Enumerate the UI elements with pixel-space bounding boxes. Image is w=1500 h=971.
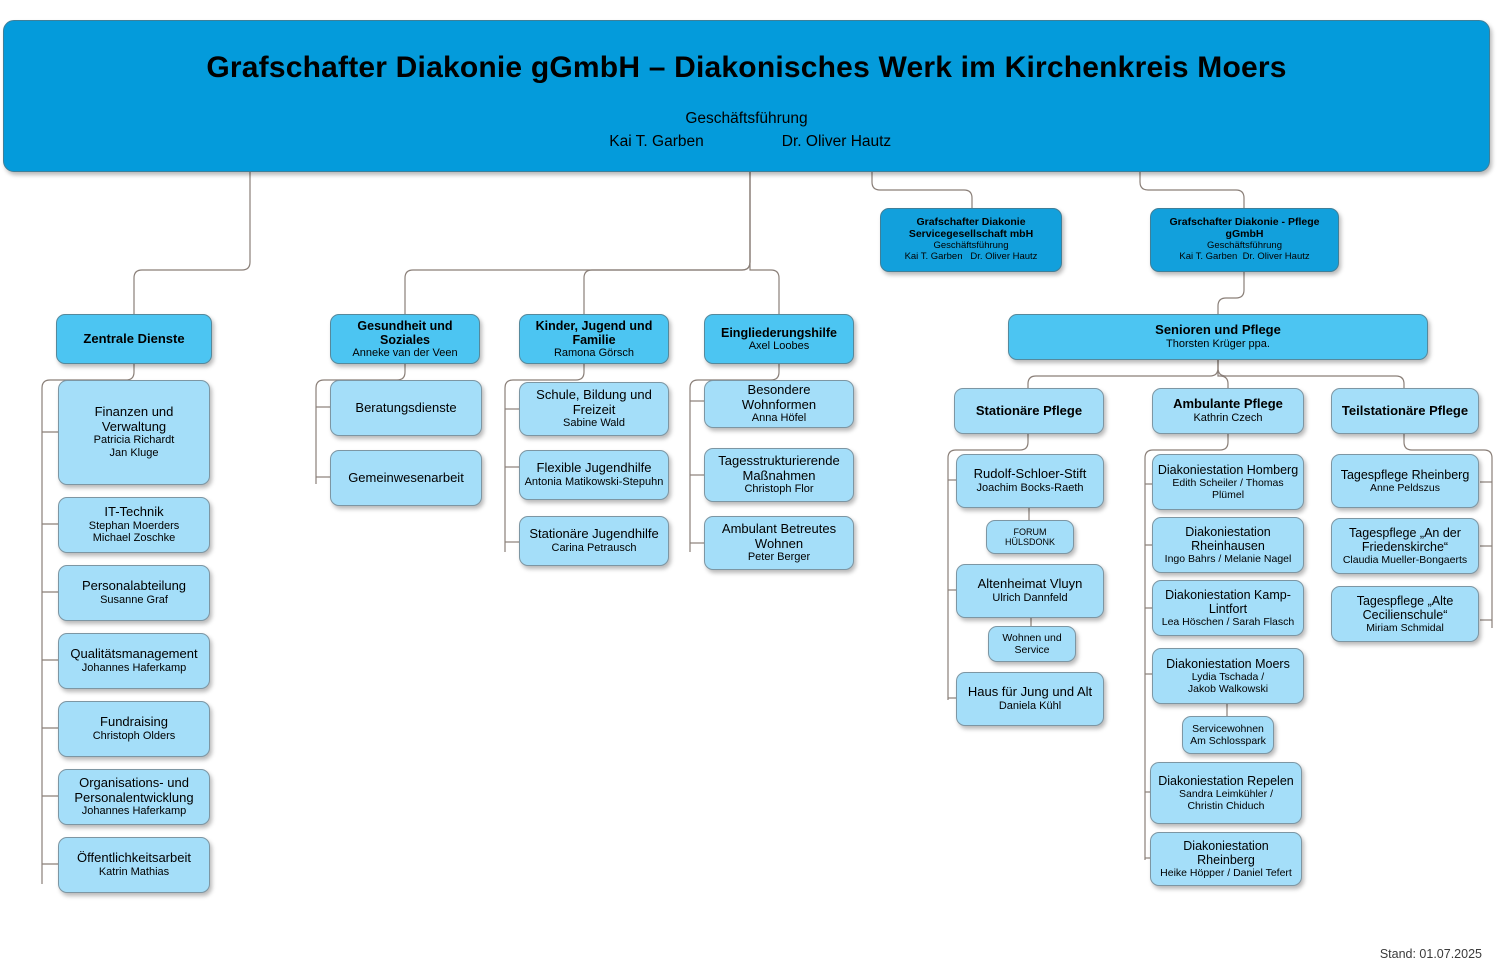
facility-altenheimat-vluyn[interactable]: Altenheimat Vluyn Ulrich Dannfeld xyxy=(956,564,1104,618)
facility-wohnen-und-service[interactable]: Wohnen und Service xyxy=(988,626,1076,662)
facility-servicewohnen-am-schlosspark[interactable]: Servicewohnen Am Schlosspark xyxy=(1182,716,1274,754)
department-kinder-jugend-und-familie[interactable]: Kinder, Jugend und Familie Ramona Görsch xyxy=(519,314,669,364)
facility-title: Altenheimat Vluyn xyxy=(978,577,1083,592)
unit-title: Flexible Jugendhilfe xyxy=(537,461,652,476)
root-management: Geschäftsführung Kai T. GarbenDr. Oliver… xyxy=(4,107,1489,154)
facility-title: Rudolf-Schloer-Stift xyxy=(974,467,1087,482)
facility-title: Diakoniestation Rheinhausen xyxy=(1157,525,1299,553)
facility-title: Diakoniestation Moers xyxy=(1166,657,1290,671)
facility-lead-1: Daniela Kühl xyxy=(999,700,1061,713)
department-title: Gesundheit und Soziales xyxy=(335,319,475,347)
unit-schule-bildung-und-freizeit[interactable]: Schule, Bildung und Freizeit Sabine Wald xyxy=(519,382,669,436)
facility-lead-2: Jakob Walkowski xyxy=(1188,683,1268,695)
unit-personalabteilung[interactable]: Personalabteilung Susanne Graf xyxy=(58,565,210,621)
unit-title: IT-Technik xyxy=(104,505,163,520)
unit-lead-1: Carina Petrausch xyxy=(552,542,637,555)
facility-tagespflege-an-der-friedenskirche[interactable]: Tagespflege „An der Friedenskirche“ Clau… xyxy=(1331,518,1479,574)
facility-sub-line2: HÜLSDONK xyxy=(1005,537,1055,547)
unit-stationaere-jugendhilfe[interactable]: Stationäre Jugendhilfe Carina Petrausch xyxy=(519,516,669,566)
unit-besondere-wohnformen[interactable]: Besondere Wohnformen Anna Höfel xyxy=(704,380,854,428)
unit-lead-1: Antonia Matikowski-Stepuhn xyxy=(525,476,664,489)
department-eingliederungshilfe[interactable]: Eingliederungshilfe Axel Loobes xyxy=(704,314,854,364)
facility-title: Diakoniestation Rheinberg xyxy=(1155,839,1297,867)
facility-lead-1: Heike Höpper / Daniel Tefert xyxy=(1160,867,1292,879)
unit-finanzen-und-verwaltung[interactable]: Finanzen und Verwaltung Patricia Richard… xyxy=(58,380,210,485)
unit-beratungsdienste[interactable]: Beratungsdienste xyxy=(330,380,482,436)
subsidiary-service-gmbh[interactable]: Grafschafter Diakonie Servicegesellschaf… xyxy=(880,208,1062,272)
facility-sub-line2: Am Schlosspark xyxy=(1190,735,1266,747)
facility-title: Diakoniestation Homberg xyxy=(1158,463,1298,477)
department-gesundheit-und-soziales[interactable]: Gesundheit und Soziales Anneke van der V… xyxy=(330,314,480,364)
unit-lead-1: Katrin Mathias xyxy=(99,866,169,879)
department-title: Senioren und Pflege xyxy=(1155,323,1281,338)
facility-lead-1: Ulrich Dannfeld xyxy=(992,592,1067,605)
facility-diakoniestation-repelen[interactable]: Diakoniestation Repelen Sandra Leimkühle… xyxy=(1150,762,1302,824)
department-lead: Anneke van der Veen xyxy=(352,347,457,360)
unit-title: Fundraising xyxy=(100,715,168,730)
facility-rudolf-schloer-stift[interactable]: Rudolf-Schloer-Stift Joachim Bocks-Raeth xyxy=(956,454,1104,508)
facility-tagespflege-alte-cecilienschule[interactable]: Tagespflege „Alte Cecilienschule“ Miriam… xyxy=(1331,586,1479,642)
unit-title: Organisations- und Personalentwicklung xyxy=(63,776,205,805)
subsidiary-pflege-gmbh[interactable]: Grafschafter Diakonie - Pflege gGmbH Ges… xyxy=(1150,208,1339,272)
branch-title: Ambulante Pflege xyxy=(1173,397,1283,412)
unit-organisations-und-personalentwicklung[interactable]: Organisations- und Personalentwicklung J… xyxy=(58,769,210,825)
facility-title: Diakoniestation Repelen xyxy=(1158,774,1294,788)
facility-sub-line1: Servicewohnen xyxy=(1192,723,1264,735)
facility-diakoniestation-rheinhausen[interactable]: Diakoniestation Rheinhausen Ingo Bahrs /… xyxy=(1152,517,1304,573)
unit-oeffentlichkeitsarbeit[interactable]: Öffentlichkeitsarbeit Katrin Mathias xyxy=(58,837,210,893)
unit-title: Schule, Bildung und Freizeit xyxy=(524,388,664,417)
branch-teilstationaere-pflege[interactable]: Teilstationäre Pflege xyxy=(1331,388,1479,434)
branch-ambulante-pflege[interactable]: Ambulante Pflege Kathrin Czech xyxy=(1152,388,1304,434)
unit-lead-1: Peter Berger xyxy=(748,551,810,564)
unit-gemeinwesenarbeit[interactable]: Gemeinwesenarbeit xyxy=(330,450,482,506)
facility-diakoniestation-rheinberg[interactable]: Diakoniestation Rheinberg Heike Höpper /… xyxy=(1150,832,1302,886)
org-chart: Grafschafter Diakonie gGmbH – Diakonisch… xyxy=(0,0,1500,971)
department-lead: Thorsten Krüger ppa. xyxy=(1166,338,1270,351)
department-senioren-und-pflege[interactable]: Senioren und Pflege Thorsten Krüger ppa. xyxy=(1008,314,1428,360)
unit-lead-2: Jan Kluge xyxy=(110,447,159,460)
facility-diakoniestation-kamp-lintfort[interactable]: Diakoniestation Kamp-Lintfort Lea Hösche… xyxy=(1152,580,1304,636)
root-title: Grafschafter Diakonie gGmbH – Diakonisch… xyxy=(4,51,1489,85)
department-title: Kinder, Jugend und Familie xyxy=(524,319,664,347)
department-zentrale-dienste[interactable]: Zentrale Dienste xyxy=(56,314,212,364)
facility-lead-1: Anne Peldszus xyxy=(1370,482,1440,494)
facility-title: Tagespflege „An der Friedenskirche“ xyxy=(1336,526,1474,554)
unit-title: Stationäre Jugendhilfe xyxy=(529,527,658,542)
subsidiary-managers: Kai T. Garben Dr. Oliver Hautz xyxy=(1179,252,1309,263)
facility-diakoniestation-moers[interactable]: Diakoniestation Moers Lydia Tschada / Ja… xyxy=(1152,648,1304,704)
facility-forum-huelsdonk[interactable]: FORUM HÜLSDONK xyxy=(986,520,1074,554)
facility-title: Haus für Jung und Alt xyxy=(968,685,1092,700)
branch-title: Teilstationäre Pflege xyxy=(1342,404,1468,419)
facility-sub-line1: Wohnen und xyxy=(1002,632,1061,644)
subsidiary-title-line1: Grafschafter Diakonie - Pflege gGmbH xyxy=(1155,217,1334,241)
subsidiary-managers: Kai T. Garben Dr. Oliver Hautz xyxy=(905,252,1038,263)
unit-title: Qualitätsmanagement xyxy=(70,647,197,662)
root-manager-2: Dr. Oliver Hautz xyxy=(747,130,927,153)
facility-title: Tagespflege „Alte Cecilienschule“ xyxy=(1336,594,1474,622)
department-lead: Ramona Görsch xyxy=(554,347,634,360)
unit-lead-1: Johannes Haferkamp xyxy=(82,805,187,818)
unit-fundraising[interactable]: Fundraising Christoph Olders xyxy=(58,701,210,757)
unit-it-technik[interactable]: IT-Technik Stephan Moerders Michael Zosc… xyxy=(58,497,210,553)
facility-tagespflege-rheinberg[interactable]: Tagespflege Rheinberg Anne Peldszus xyxy=(1331,454,1479,508)
unit-title: Beratungsdienste xyxy=(355,401,456,416)
unit-title: Tagesstrukturierende Maßnahmen xyxy=(709,454,849,483)
facility-lead-1: Lea Höschen / Sarah Flasch xyxy=(1162,616,1295,628)
department-title: Eingliederungshilfe xyxy=(721,326,837,340)
unit-title: Öffentlichkeitsarbeit xyxy=(77,851,191,866)
root-organisation-box[interactable]: Grafschafter Diakonie gGmbH – Diakonisch… xyxy=(3,20,1490,172)
facility-haus-fuer-jung-und-alt[interactable]: Haus für Jung und Alt Daniela Kühl xyxy=(956,672,1104,726)
unit-tagesstrukturierende-massnahmen[interactable]: Tagesstrukturierende Maßnahmen Christoph… xyxy=(704,448,854,502)
facility-lead-1: Sandra Leimkühler / xyxy=(1179,788,1273,800)
unit-lead-1: Christoph Flor xyxy=(744,483,813,496)
unit-title: Finanzen und Verwaltung xyxy=(63,405,205,434)
unit-lead-1: Sabine Wald xyxy=(563,417,625,430)
unit-title: Ambulant Betreutes Wohnen xyxy=(709,522,849,551)
unit-ambulant-betreutes-wohnen[interactable]: Ambulant Betreutes Wohnen Peter Berger xyxy=(704,516,854,570)
unit-lead-1: Stephan Moerders xyxy=(89,520,180,533)
unit-title: Gemeinwesenarbeit xyxy=(348,471,464,486)
facility-lead-1: Edith Scheiler / Thomas Plümel xyxy=(1157,477,1299,501)
branch-title: Stationäre Pflege xyxy=(976,404,1082,419)
facility-lead-2: Christin Chiduch xyxy=(1187,800,1264,812)
facility-lead-1: Ingo Bahrs / Melanie Nagel xyxy=(1165,553,1292,565)
unit-flexible-jugendhilfe[interactable]: Flexible Jugendhilfe Antonia Matikowski-… xyxy=(519,450,669,500)
unit-title: Personalabteilung xyxy=(82,579,186,594)
revision-note: Stand: 01.07.2025 xyxy=(1380,947,1482,961)
branch-lead: Kathrin Czech xyxy=(1193,412,1262,425)
facility-lead-1: Joachim Bocks-Raeth xyxy=(977,482,1084,495)
facility-diakoniestation-homberg[interactable]: Diakoniestation Homberg Edith Scheiler /… xyxy=(1152,454,1304,510)
root-manager-1: Kai T. Garben xyxy=(567,130,747,153)
facility-lead-1: Claudia Mueller-Bongaerts xyxy=(1343,554,1467,566)
facility-lead-1: Miriam Schmidal xyxy=(1366,622,1444,634)
root-role-label: Geschäftsführung xyxy=(4,107,1489,130)
branch-stationaere-pflege[interactable]: Stationäre Pflege xyxy=(954,388,1104,434)
unit-lead-2: Michael Zoschke xyxy=(93,532,176,545)
facility-title: Diakoniestation Kamp-Lintfort xyxy=(1157,588,1299,616)
department-lead: Axel Loobes xyxy=(749,340,810,353)
facility-title: Tagespflege Rheinberg xyxy=(1341,468,1470,482)
facility-lead-1: Lydia Tschada / xyxy=(1192,671,1264,683)
unit-lead-1: Johannes Haferkamp xyxy=(82,662,187,675)
unit-title: Besondere Wohnformen xyxy=(709,383,849,412)
facility-sub-line2: Service xyxy=(1014,644,1049,656)
unit-lead-1: Christoph Olders xyxy=(93,730,176,743)
unit-lead-1: Anna Höfel xyxy=(752,412,806,425)
unit-qualitaetsmanagement[interactable]: Qualitätsmanagement Johannes Haferkamp xyxy=(58,633,210,689)
unit-lead-1: Patricia Richardt xyxy=(94,434,175,447)
department-title: Zentrale Dienste xyxy=(83,332,184,347)
unit-lead-1: Susanne Graf xyxy=(100,594,168,607)
facility-sub-line1: FORUM xyxy=(1014,527,1047,537)
